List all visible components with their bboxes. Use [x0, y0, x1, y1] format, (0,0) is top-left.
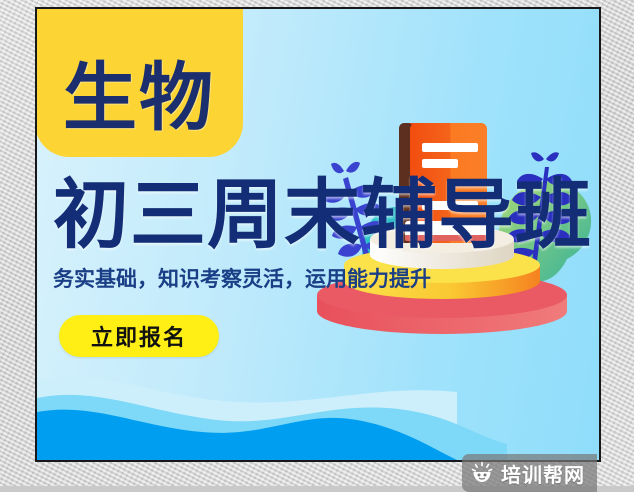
- subject-badge-label: 生物: [63, 61, 215, 157]
- subtitle-text: 务实基础，知识考察灵活，运用能力提升: [53, 263, 431, 293]
- course-banner: 生物 初三周末辅导班 务实基础，知识考察灵活，运用能力提升 立即报名: [35, 7, 601, 462]
- wave-decoration: [37, 340, 601, 460]
- enroll-now-label: 立即报名: [91, 320, 187, 352]
- subject-badge: 生物: [35, 7, 243, 157]
- enroll-now-button[interactable]: 立即报名: [59, 315, 219, 357]
- page-title: 初三周末辅导班: [53, 177, 593, 253]
